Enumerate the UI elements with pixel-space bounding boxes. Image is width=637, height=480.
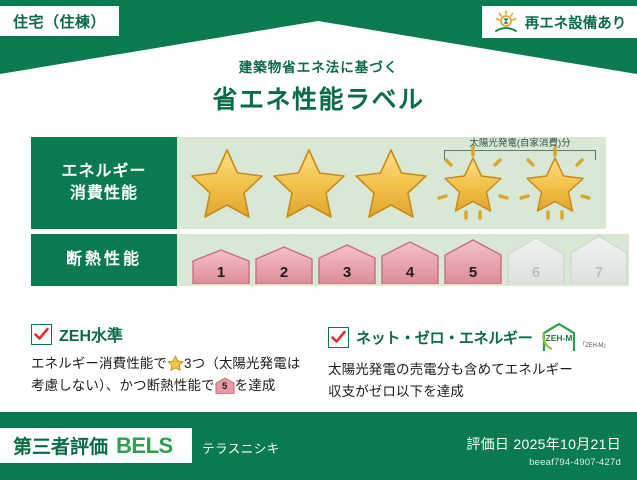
- zeh-m-logo-caption: 「ZEH-M」: [579, 340, 609, 352]
- evaluation-id: beeaf794-4907-427d: [529, 457, 621, 468]
- criteria-zeh-desc-stars: 3つ: [184, 356, 205, 371]
- insulation-performance-label-box: 断熱性能: [31, 234, 177, 286]
- criteria-net-zero-energy: ネット・ゼロ・エネルギー ZEH-M 「ZEH-M」 太陽光発電の売電分も含めて…: [328, 322, 609, 404]
- house-badge-icon: 4: [380, 240, 440, 284]
- criteria-zeh-header: ZEH水準: [31, 322, 312, 346]
- bels-word: BELS: [116, 433, 173, 459]
- energy-star-rating: [187, 144, 595, 222]
- star-icon-inline: [167, 355, 184, 371]
- star-icon: [351, 144, 431, 222]
- energy-label-line1: エネルギー: [61, 161, 146, 183]
- criteria-nze-header: ネット・ゼロ・エネルギー ZEH-M 「ZEH-M」: [328, 322, 609, 352]
- house-badge-icon: 2: [254, 245, 314, 284]
- house-badge-icon: 5: [443, 238, 503, 284]
- insulation-level-value: 2: [254, 264, 314, 281]
- house-badge-icon: 7: [569, 234, 629, 284]
- insulation-level-value: 6: [506, 264, 566, 281]
- criteria-section: ZEH水準 エネルギー消費性能で3つ（太陽光発電は考慮しない）、かつ断熱性能で5…: [31, 322, 609, 404]
- insulation-performance-row: 断熱性能 1: [31, 234, 606, 286]
- energy-performance-stars-area: 太陽光発電(自家消費)分: [177, 137, 606, 229]
- insulation-level-value: 3: [317, 264, 377, 281]
- insulation-label: 断熱性能: [66, 249, 142, 271]
- house-badge-icon: 3: [317, 243, 377, 284]
- zeh-m-logo: ZEH-M 「ZEH-M」: [541, 322, 609, 352]
- building-type-tag: 住宅（住棟）: [0, 6, 119, 36]
- star-icon-pv: [515, 144, 595, 222]
- insulation-levels-area: 1 2 3: [177, 234, 629, 286]
- check-icon: [31, 324, 52, 345]
- insulation-level-value: 1: [191, 264, 251, 281]
- label-footer: 第三者評価 BELS テラスニシキ 評価日 2025年10月21日 beeaf7…: [0, 412, 637, 480]
- energy-label-line2: 消費性能: [70, 183, 138, 205]
- energy-performance-label: 住宅（住棟） 再エネ設備あり 建築物省エネ法に基づく 省エネ性能ラベル: [0, 0, 637, 480]
- criteria-zeh-desc-part2: （太陽光発電: [205, 356, 287, 371]
- label-title-block: 建築物省エネ法に基づく 省エネ性能ラベル: [0, 56, 637, 116]
- criteria-nze-desc-line2: 収支がゼロ以下を達成: [328, 381, 609, 403]
- criteria-zeh-title: ZEH水準: [59, 322, 123, 346]
- bels-badge: 第三者評価 BELS: [0, 428, 192, 463]
- insulation-level-value: 5: [443, 264, 503, 281]
- check-icon: [328, 327, 349, 348]
- evaluation-date: 評価日 2025年10月21日: [466, 434, 621, 454]
- criteria-zeh-description: エネルギー消費性能で3つ（太陽光発電は考慮しない）、かつ断熱性能で5を達成: [31, 353, 312, 398]
- label-title-main: 省エネ性能ラベル: [0, 80, 637, 116]
- house-badge-icon: 1: [191, 248, 251, 284]
- energy-performance-label-box: エネルギー 消費性能: [31, 137, 177, 229]
- house-badge-icon: 6: [506, 236, 566, 284]
- insulation-level-value: 4: [380, 264, 440, 281]
- criteria-nze-desc-line1: 太陽光発電の売電分も含めてエネルギー: [328, 359, 609, 381]
- property-name: テラスニシキ: [202, 438, 280, 457]
- performance-block: エネルギー 消費性能 太陽光発電(自家消費)分: [31, 137, 606, 286]
- criteria-zeh-house-value: 5: [215, 379, 235, 395]
- criteria-zeh-desc-part4: を達成: [235, 378, 276, 393]
- label-title-sub: 建築物省エネ法に基づく: [0, 56, 637, 76]
- bels-third-party-label: 第三者評価: [13, 432, 108, 459]
- insulation-level-scale: 1 2 3: [191, 234, 629, 284]
- renewable-equipment-label: 再エネ設備あり: [525, 12, 627, 33]
- star-icon: [269, 144, 349, 222]
- insulation-level-value: 7: [569, 264, 629, 281]
- criteria-zeh-desc-part1: エネルギー消費性能で: [31, 356, 167, 371]
- star-icon-pv: [433, 144, 513, 222]
- sun-icon: [493, 10, 519, 34]
- building-type-tag-label: 住宅（住棟）: [13, 11, 106, 32]
- criteria-nze-title: ネット・ゼロ・エネルギー: [356, 327, 532, 348]
- criteria-zeh-standard: ZEH水準 エネルギー消費性能で3つ（太陽光発電は考慮しない）、かつ断熱性能で5…: [31, 322, 312, 404]
- house-badge-icon-inline: 5: [215, 377, 235, 394]
- svg-text:ZEH-M: ZEH-M: [546, 333, 573, 343]
- renewable-equipment-tag: 再エネ設備あり: [482, 6, 637, 38]
- energy-performance-row: エネルギー 消費性能 太陽光発電(自家消費)分: [31, 137, 606, 229]
- star-icon: [187, 144, 267, 222]
- criteria-nze-description: 太陽光発電の売電分も含めてエネルギー 収支がゼロ以下を達成: [328, 359, 609, 404]
